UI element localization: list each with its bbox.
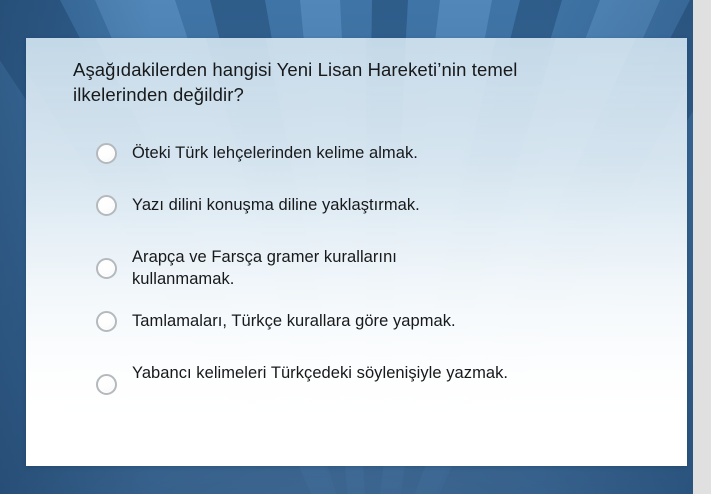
option-label-e[interactable]: Yabancı kelimeleri Türkçedeki söylenişiy… (132, 362, 508, 384)
option-label-b[interactable]: Yazı dilini konuşma diline yaklaştırmak. (132, 194, 420, 216)
option-row-a[interactable]: Öteki Türk lehçelerinden kelime almak. (96, 142, 656, 174)
radio-button-d[interactable] (96, 311, 117, 332)
option-label-d[interactable]: Tamlamaları, Türkçe kurallara göre yapma… (132, 310, 456, 332)
radio-button-b[interactable] (96, 195, 117, 216)
radio-button-c[interactable] (96, 258, 117, 279)
option-label-c[interactable]: Arapça ve Farsça gramer kurallarını kull… (132, 246, 477, 290)
option-row-d[interactable]: Tamlamaları, Türkçe kurallara göre yapma… (96, 310, 656, 342)
option-label-a[interactable]: Öteki Türk lehçelerinden kelime almak. (132, 142, 418, 164)
screen-root: Aşağıdakilerden hangisi Yeni Lisan Harek… (0, 0, 711, 494)
option-row-c[interactable]: Arapça ve Farsça gramer kurallarını kull… (96, 246, 656, 290)
radio-button-e[interactable] (96, 374, 117, 395)
option-row-b[interactable]: Yazı dilini konuşma diline yaklaştırmak. (96, 194, 656, 226)
page-gutter (693, 0, 711, 494)
options-list: Öteki Türk lehçelerinden kelime almak. Y… (96, 142, 656, 395)
radio-button-a[interactable] (96, 143, 117, 164)
option-row-e[interactable]: Yabancı kelimeleri Türkçedeki söylenişiy… (96, 362, 656, 395)
question-text: Aşağıdakilerden hangisi Yeni Lisan Harek… (73, 57, 613, 107)
question-card: Aşağıdakilerden hangisi Yeni Lisan Harek… (26, 38, 687, 466)
